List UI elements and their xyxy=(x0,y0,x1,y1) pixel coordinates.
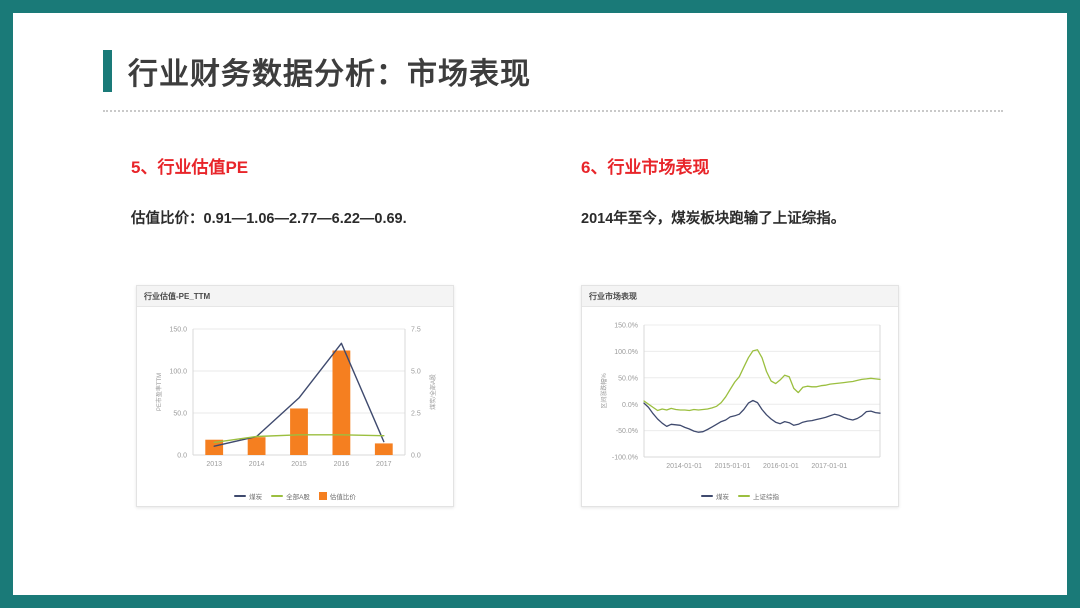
y-tick-label: 150.0 xyxy=(169,327,187,334)
y2-tick-label: 2.5 xyxy=(411,411,421,418)
chart-header-valuation: 行业估值-PE_TTM xyxy=(137,286,453,307)
x-tick-label: 2017-01-01 xyxy=(811,463,847,470)
x-tick-label: 2013 xyxy=(206,461,222,468)
y-tick-label: -50.0% xyxy=(616,428,638,435)
x-tick-label: 2014 xyxy=(249,461,265,468)
legend-label: 煤炭 xyxy=(249,491,262,501)
slide-canvas: 行业财务数据分析：市场表现 5、行业估值PE 估值比价：0.91—1.06—2.… xyxy=(13,13,1067,595)
section-body-market: 2014年至今，煤炭板块跑输了上证综指。 xyxy=(581,204,911,235)
chart-header-market: 行业市场表现 xyxy=(582,286,898,307)
chart-svg-market: -100.0%-50.0%0.0%50.0%100.0%150.0%2014-0… xyxy=(582,307,898,507)
y2-tick-label: 0.0 xyxy=(411,453,421,460)
chart-svg-valuation: 0.050.0100.0150.00.02.55.07.520132014201… xyxy=(137,307,453,507)
page-title-text: 行业财务数据分析：市场表现 xyxy=(128,49,531,93)
x-tick-label: 2016 xyxy=(334,461,350,468)
legend-line-icon xyxy=(234,495,246,497)
x-tick-label: 2015 xyxy=(291,461,307,468)
y-tick-label: 100.0 xyxy=(169,369,187,376)
line-series xyxy=(644,350,880,411)
y-tick-label: 150.0% xyxy=(614,323,638,330)
page-title: 行业财务数据分析：市场表现 xyxy=(103,49,531,93)
y-tick-label: -100.0% xyxy=(612,455,638,462)
chart-title-valuation: 行业估值-PE_TTM xyxy=(144,291,210,302)
bar xyxy=(290,408,308,455)
bar xyxy=(375,443,393,455)
y-tick-label: 50.0% xyxy=(618,375,638,382)
legend-item: 估值比价 xyxy=(319,491,356,501)
y-tick-label: 100.0% xyxy=(614,349,638,356)
legend-item: 煤炭 xyxy=(701,491,729,501)
x-tick-label: 2014-01-01 xyxy=(666,463,702,470)
legend-item: 上证综指 xyxy=(738,491,779,501)
section-heading-valuation: 5、行业估值PE xyxy=(131,153,551,178)
chart-title-market: 行业市场表现 xyxy=(589,291,637,302)
line-series xyxy=(644,401,880,433)
chart-card-valuation: 行业估值-PE_TTM 0.050.0100.0150.00.02.55.07.… xyxy=(136,285,454,507)
y-tick-label: 0.0 xyxy=(177,453,187,460)
bar xyxy=(248,437,266,455)
title-divider xyxy=(103,110,1003,112)
section-market: 6、行业市场表现 2014年至今，煤炭板块跑输了上证综指。 xyxy=(581,153,1001,235)
legend-line-icon xyxy=(271,495,283,497)
legend-item: 全部A股 xyxy=(271,491,310,501)
section-valuation: 5、行业估值PE 估值比价：0.91—1.06—2.77—6.22—0.69. xyxy=(131,153,551,235)
legend-label: 估值比价 xyxy=(330,491,356,501)
section-heading-market: 6、行业市场表现 xyxy=(581,153,1001,178)
title-accent-bar xyxy=(103,50,112,92)
x-tick-label: 2017 xyxy=(376,461,392,468)
legend-swatch-icon xyxy=(319,492,327,500)
y-tick-label: 50.0 xyxy=(173,411,187,418)
chart-legend-market: 煤炭上证综指 xyxy=(582,491,898,501)
x-tick-label: 2016-01-01 xyxy=(763,463,799,470)
legend-label: 全部A股 xyxy=(286,491,310,501)
y-axis-title: PE市盈率TTM xyxy=(155,373,163,411)
chart-plot-market: -100.0%-50.0%0.0%50.0%100.0%150.0%2014-0… xyxy=(582,307,898,507)
legend-line-icon xyxy=(738,495,750,497)
y2-tick-label: 5.0 xyxy=(411,369,421,376)
x-tick-label: 2015-01-01 xyxy=(715,463,751,470)
y-tick-label: 0.0% xyxy=(622,402,638,409)
chart-card-market: 行业市场表现 -100.0%-50.0%0.0%50.0%100.0%150.0… xyxy=(581,285,899,507)
legend-line-icon xyxy=(701,495,713,497)
section-body-valuation: 估值比价：0.91—1.06—2.77—6.22—0.69. xyxy=(131,204,411,235)
legend-label: 煤炭 xyxy=(716,491,729,501)
y2-tick-label: 7.5 xyxy=(411,327,421,334)
legend-label: 上证综指 xyxy=(753,491,779,501)
chart-plot-valuation: 0.050.0100.0150.00.02.55.07.520132014201… xyxy=(137,307,453,507)
chart-legend-valuation: 煤炭全部A股估值比价 xyxy=(137,491,453,501)
y-axis-title: 区间涨跌幅% xyxy=(600,373,608,409)
bar xyxy=(332,351,350,455)
legend-item: 煤炭 xyxy=(234,491,262,501)
y2-axis-title: 煤炭/全部A股 xyxy=(429,374,437,410)
